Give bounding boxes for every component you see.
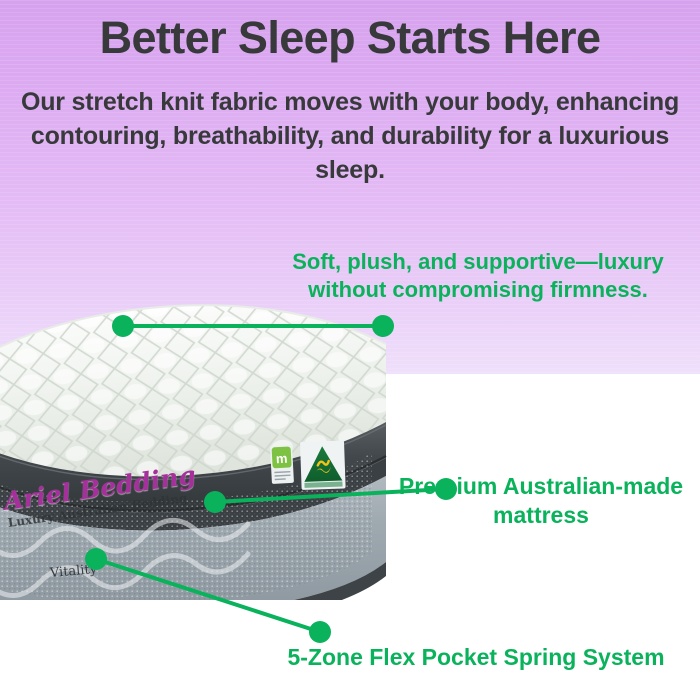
- hero-subcopy: Our stretch knit fabric moves with your …: [6, 85, 694, 187]
- callout-label-comfort: Soft, plush, and supportive—luxury witho…: [262, 248, 694, 304]
- brand-green-tag: m: [270, 445, 294, 484]
- page-title: Better Sleep Starts Here: [0, 14, 700, 63]
- australian-made-logo: [300, 440, 346, 490]
- product-image-mattress: m: [0, 300, 396, 600]
- infographic-canvas: Better Sleep Starts Here Our stretch kni…: [0, 0, 700, 700]
- callout-label-origin: Premium Australian-made mattress: [386, 472, 696, 530]
- callout-label-springs: 5-Zone Flex Pocket Spring System: [254, 643, 698, 672]
- svg-text:m: m: [275, 451, 287, 467]
